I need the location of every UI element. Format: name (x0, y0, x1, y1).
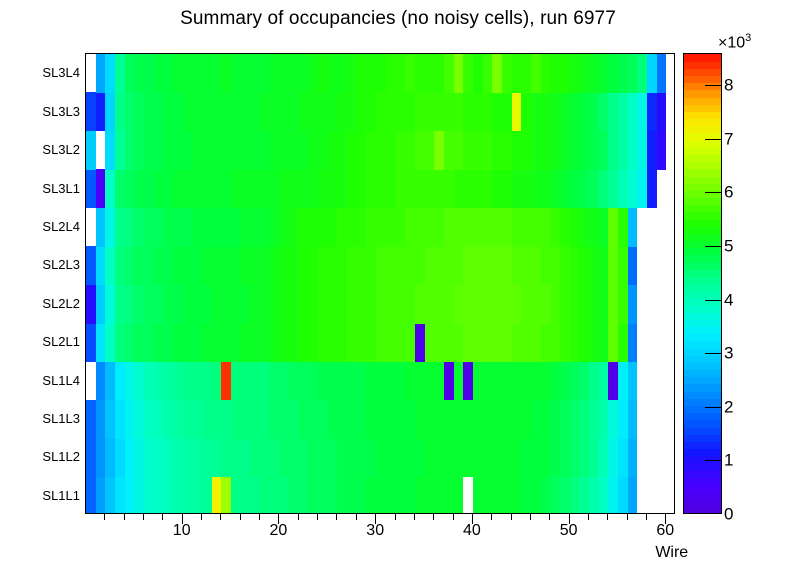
heatmap-cell (366, 208, 405, 247)
x-axis-minor-tick (433, 514, 434, 520)
heatmap-cell (318, 246, 347, 285)
heatmap-cell (231, 361, 270, 400)
heatmap-cell (512, 246, 541, 285)
x-axis-minor-tick (607, 514, 608, 520)
heatmap-cell (541, 477, 551, 513)
y-axis-label: SL2L3 (20, 258, 80, 271)
heatmap-cell (308, 131, 327, 170)
heatmap-cell (163, 438, 173, 477)
heatmap-cell (415, 131, 434, 170)
heatmap-cell (125, 131, 135, 170)
heatmap-cell (512, 169, 531, 208)
heatmap-cell (86, 169, 96, 208)
x-axis-minor-tick (395, 514, 396, 520)
heatmap-cell (589, 400, 599, 439)
heatmap-cell (531, 400, 550, 439)
heatmap-cell (299, 208, 338, 247)
heatmap-cell (318, 361, 366, 400)
colorbar-tick-label: 2 (724, 398, 733, 415)
colorbar-tick-label: 0 (724, 506, 733, 523)
heatmap-cell (366, 361, 405, 400)
heatmap-cell (96, 208, 106, 247)
colorbar-tick-label: 1 (724, 452, 733, 469)
heatmap-cell (405, 54, 415, 93)
heatmap-cell (366, 400, 414, 439)
heatmap-cell (473, 477, 521, 513)
heatmap-cell (192, 208, 240, 247)
heatmap-cell (550, 169, 560, 208)
x-axis-minor-tick (259, 514, 260, 520)
heatmap-cell (550, 477, 560, 513)
heatmap-cell (125, 169, 135, 208)
heatmap-cell (115, 246, 125, 285)
heatmap-cell (366, 131, 395, 170)
y-axis-label: SL2L4 (20, 220, 80, 233)
heatmap-cell (570, 54, 580, 93)
heatmap-cell (357, 54, 386, 93)
heatmap-cell (279, 208, 289, 247)
heatmap-cell (163, 400, 173, 439)
heatmap-cell (154, 246, 173, 285)
heatmap-cell (521, 285, 550, 324)
heatmap-cell (183, 285, 212, 324)
heatmap-cell (589, 361, 599, 400)
colorbar-tick (705, 139, 722, 140)
colorbar-tick-label: 5 (724, 238, 733, 255)
heatmap-cell (618, 208, 628, 247)
heatmap-cell (318, 323, 347, 362)
y-axis-label: SL2L1 (20, 335, 80, 348)
heatmap-cell (96, 477, 106, 513)
heatmap-cell (599, 54, 609, 93)
heatmap-cell (599, 323, 609, 362)
heatmap-cell (318, 54, 328, 93)
x-axis-labels: 102030405060 (0, 522, 796, 544)
heatmap-cell (502, 54, 512, 93)
heatmap-cell (86, 438, 96, 477)
colorbar-tick (705, 353, 722, 354)
heatmap-cell (347, 246, 376, 285)
x-axis-minor-tick (414, 514, 415, 520)
heatmap-cell (134, 323, 153, 362)
heatmap-cell (560, 477, 570, 513)
heatmap-cell (647, 54, 657, 93)
heatmap-cell (115, 54, 125, 93)
colorbar-tick (705, 460, 722, 461)
colorbar-labels: 012345678 (724, 53, 784, 514)
heatmap-cell (628, 477, 638, 513)
heatmap-cell (318, 169, 347, 208)
heatmap-cell (221, 438, 250, 477)
heatmap-cell (415, 400, 531, 439)
heatmap-cell (347, 131, 366, 170)
heatmap-cell (570, 285, 580, 324)
colorbar-tick (705, 85, 722, 86)
x-axis-minor-tick (530, 514, 531, 520)
x-axis-title: Wire (655, 544, 688, 562)
x-axis-label: 20 (269, 522, 287, 540)
heatmap-cell (570, 477, 580, 513)
y-axis-label: SL1L3 (20, 412, 80, 425)
heatmap-cell (115, 361, 125, 400)
heatmap-cell (163, 208, 192, 247)
heatmap-cell (125, 361, 135, 400)
heatmap-cell (579, 477, 589, 513)
heatmap-cell (608, 131, 618, 170)
heatmap-cell (270, 131, 309, 170)
heatmap-cell (115, 323, 125, 362)
page-title: Summary of occupancies (no noisy cells),… (0, 8, 796, 30)
heatmap-cell (183, 400, 202, 439)
heatmap-cell (376, 323, 415, 362)
heatmap-cell (279, 169, 318, 208)
heatmap-cell (415, 54, 444, 93)
heatmap-cell (512, 131, 531, 170)
heatmap-cell (134, 361, 144, 400)
heatmap-cell (608, 54, 618, 93)
heatmap-cell (202, 400, 231, 439)
heatmap-cell (125, 92, 135, 131)
heatmap-cell (231, 54, 270, 93)
heatmap-cell (105, 400, 115, 439)
x-axis-label: 60 (656, 522, 674, 540)
heatmap-cell (115, 438, 125, 477)
heatmap-cell (599, 438, 609, 477)
heatmap-cell (589, 54, 599, 93)
colorbar-ticks (705, 53, 725, 514)
x-axis-minor-tick (646, 514, 647, 520)
heatmap-cell (173, 169, 231, 208)
heatmap-cell (415, 477, 463, 513)
heatmap-cell (328, 54, 347, 93)
heatmap-cell (608, 92, 618, 131)
heatmap-cell (279, 438, 308, 477)
heatmap-cell (415, 323, 425, 362)
x-axis-minor-tick (588, 514, 589, 520)
heatmap-cell (115, 131, 125, 170)
heatmap-cell (512, 323, 541, 362)
heatmap-cell (105, 285, 115, 324)
heatmap-cell (570, 169, 580, 208)
heatmap-cell (308, 54, 318, 93)
heatmap-cell (579, 54, 589, 93)
heatmap-cell (115, 477, 125, 513)
heatmap-cell (173, 400, 183, 439)
heatmap-cell (492, 131, 511, 170)
heatmap-cell (463, 131, 492, 170)
heatmap-cell (657, 54, 667, 93)
x-axis-minor-tick (336, 514, 337, 520)
x-axis-minor-tick (627, 514, 628, 520)
heatmap-cell (512, 92, 522, 131)
heatmap-cell (463, 246, 511, 285)
heatmap-cell (173, 361, 183, 400)
y-axis-labels: SL1L1SL1L2SL1L3SL1L4SL2L1SL2L2SL2L3SL2L4… (16, 53, 80, 514)
heatmap-cell (560, 131, 570, 170)
heatmap-cell (570, 131, 580, 170)
heatmap-cell (444, 54, 454, 93)
colorbar-tick-label: 8 (724, 77, 733, 94)
heatmap-cell (376, 438, 424, 477)
heatmap-cell (163, 131, 192, 170)
heatmap-cell (270, 323, 280, 362)
heatmap-cell (144, 361, 154, 400)
heatmap-cell (105, 92, 115, 131)
heatmap-cell (599, 131, 609, 170)
heatmap-cell (202, 438, 221, 477)
heatmap-cell (299, 285, 318, 324)
heatmap-cell (618, 400, 628, 439)
heatmap-cell (579, 285, 589, 324)
heatmap-cell (531, 131, 550, 170)
heatmap-cell (492, 54, 502, 93)
heatmap-cell (579, 131, 589, 170)
heatmap-cell (560, 246, 570, 285)
y-axis-label: SL1L2 (20, 450, 80, 463)
heatmap-cell (628, 323, 638, 362)
heatmap-cell (173, 477, 183, 513)
heatmap-cell (618, 477, 628, 513)
heatmap-cell (318, 285, 347, 324)
x-axis-label: 10 (173, 522, 191, 540)
heatmap-cell (618, 169, 628, 208)
heatmap-cell (154, 477, 164, 513)
heatmap-cell (357, 92, 376, 131)
heatmap-cell (425, 438, 522, 477)
heatmap-cell (96, 92, 106, 131)
heatmap-cell (144, 400, 154, 439)
heatmap-cell (337, 92, 356, 131)
heatmap-cell (599, 92, 609, 131)
heatmap-cell (270, 54, 309, 93)
heatmap-cell (434, 131, 444, 170)
heatmap-cell (144, 477, 154, 513)
heatmap-cell (289, 208, 299, 247)
heatmap-cell (105, 438, 115, 477)
heatmap-cell (183, 438, 202, 477)
heatmap-cell (608, 169, 618, 208)
heatmap-cell (463, 323, 511, 362)
heatmap-cell (96, 169, 106, 208)
heatmap-cell (221, 54, 231, 93)
heatmap-cell (618, 285, 628, 324)
heatmap-cell (618, 131, 628, 170)
y-axis-label: SL3L1 (20, 182, 80, 195)
colorbar-exponent-base: ×10 (718, 34, 745, 51)
heatmap-cell (608, 323, 618, 362)
colorbar-tick-label: 4 (724, 291, 733, 308)
x-axis-minor-tick (162, 514, 163, 520)
heatmap-cell (550, 400, 560, 439)
heatmap-cell (173, 323, 202, 362)
heatmap-cell (570, 323, 580, 362)
heatmap-cell (579, 361, 589, 400)
heatmap-cell (579, 400, 589, 439)
heatmap-cell (86, 323, 96, 362)
heatmap-cell (96, 285, 106, 324)
heatmap-cell (86, 131, 96, 170)
heatmap-cell (376, 285, 415, 324)
heatmap-cell (289, 477, 308, 513)
heatmap-cell (183, 361, 212, 400)
x-axis-minor-tick (491, 514, 492, 520)
colorbar-exponent-power: 3 (745, 32, 751, 44)
heatmap-cell (221, 361, 231, 400)
heatmap-cell (657, 131, 667, 170)
heatmap-cell (250, 438, 279, 477)
heatmap-cell (115, 285, 125, 324)
heatmap-cell (463, 54, 473, 93)
heatmap-cell (570, 400, 580, 439)
colorbar-tick-label: 6 (724, 184, 733, 201)
x-axis-label: 30 (366, 522, 384, 540)
heatmap-cell (386, 54, 405, 93)
heatmap-cell (202, 477, 212, 513)
heatmap-cell (589, 477, 599, 513)
heatmap-cell (628, 246, 638, 285)
heatmap-cell (173, 54, 221, 93)
heatmap-cell (154, 323, 173, 362)
heatmap-cell (86, 400, 96, 439)
heatmap-cell (125, 438, 135, 477)
heatmap-cell (125, 246, 135, 285)
heatmap-cell (328, 400, 367, 439)
heatmap-cell (134, 92, 144, 131)
heatmap-cell (144, 92, 163, 131)
heatmap-cell (144, 285, 163, 324)
heatmap-cell (134, 208, 144, 247)
colorbar-tick-label: 3 (724, 345, 733, 362)
x-axis-minor-tick (104, 514, 105, 520)
x-axis-label: 40 (463, 522, 481, 540)
heatmap-cell (589, 208, 599, 247)
heatmap-cell (637, 92, 647, 131)
heatmap-cell (96, 438, 106, 477)
y-axis-label: SL3L3 (20, 105, 80, 118)
heatmap-cell (96, 400, 106, 439)
y-axis-label: SL3L2 (20, 143, 80, 156)
heatmap-cell (376, 92, 415, 131)
heatmap-cell (96, 361, 106, 400)
heatmap-cell (134, 285, 144, 324)
colorbar-tick-label: 7 (724, 130, 733, 147)
heatmap-cell (560, 400, 570, 439)
heatmap-cell (328, 131, 347, 170)
heatmap-cell (637, 54, 647, 93)
heatmap-cell (618, 323, 628, 362)
heatmap-cell (454, 169, 493, 208)
heatmap-cell (241, 246, 270, 285)
heatmap-cell (86, 285, 96, 324)
y-axis-label: SL1L1 (20, 489, 80, 502)
heatmap-cell (279, 285, 298, 324)
heatmap-cell (270, 285, 280, 324)
heatmap-cell (270, 208, 280, 247)
heatmap-cell (579, 208, 589, 247)
heatmap-cell (241, 208, 270, 247)
heatmap-cell (647, 169, 657, 208)
heatmap-cell (579, 246, 589, 285)
heatmap-cell (589, 438, 599, 477)
heatmap-cell (212, 477, 222, 513)
heatmap-cell (115, 208, 125, 247)
heatmap-cell (396, 169, 454, 208)
heatmap-cell (541, 323, 560, 362)
heatmap-cell (628, 54, 638, 93)
heatmap-cell (279, 323, 298, 362)
heatmap-cell (154, 169, 173, 208)
heatmap-cell (134, 400, 144, 439)
heatmap-cell (337, 438, 376, 477)
heatmap-cell (134, 54, 153, 93)
heatmap-cell (492, 169, 511, 208)
heatmap-cell (531, 92, 550, 131)
heatmap-cell (541, 54, 551, 93)
colorbar-tick (705, 246, 722, 247)
root-canvas: Summary of occupancies (no noisy cells),… (0, 0, 796, 572)
heatmap-cell (221, 477, 231, 513)
heatmap-cell (550, 438, 560, 477)
heatmap-cell (96, 246, 106, 285)
x-axis-minor-tick (549, 514, 550, 520)
heatmap-cell (599, 361, 609, 400)
heatmap-cell (570, 438, 580, 477)
x-axis-minor-tick (298, 514, 299, 520)
heatmap-cell (521, 477, 540, 513)
heatmap-cell (163, 285, 182, 324)
heatmap-cell (618, 246, 628, 285)
heatmap-cell (347, 169, 366, 208)
heatmap-cell (366, 477, 414, 513)
heatmap-cell (579, 438, 589, 477)
heatmap-cell (608, 400, 618, 439)
heatmap-cell (154, 54, 173, 93)
heatmap-cell (560, 285, 570, 324)
x-axis-minor-tick (201, 514, 202, 520)
heatmap-cell (608, 477, 618, 513)
heatmap-cell (105, 131, 115, 170)
heatmap-cell (308, 438, 337, 477)
colorbar-tick (705, 407, 722, 408)
heatmap-cell (599, 246, 609, 285)
heatmap-cell (183, 92, 260, 131)
heatmap-cell (628, 400, 638, 439)
heatmap-cell (483, 54, 493, 93)
heatmap-cell (202, 323, 241, 362)
heatmap-cell (550, 285, 560, 324)
heatmap-cell (86, 92, 96, 131)
heatmap-cell (599, 208, 609, 247)
heatmap-cell (560, 323, 570, 362)
heatmap-cell (473, 361, 550, 400)
heatmap-cell (570, 246, 580, 285)
heatmap-cell (618, 361, 628, 400)
x-axis-minor-tick (317, 514, 318, 520)
heatmap-cells (86, 54, 674, 513)
heatmap-cell (105, 323, 115, 362)
heatmap-cell (134, 131, 144, 170)
heatmap-cell (454, 54, 464, 93)
heatmap-cell (618, 54, 628, 93)
heatmap-cell (560, 169, 570, 208)
x-axis-label: 50 (560, 522, 578, 540)
heatmap-cell (337, 208, 366, 247)
heatmap-cell (86, 477, 96, 513)
heatmap-cell (599, 285, 609, 324)
heatmap-cell (647, 92, 657, 131)
heatmap-cell (125, 477, 135, 513)
heatmap-cell (599, 169, 609, 208)
